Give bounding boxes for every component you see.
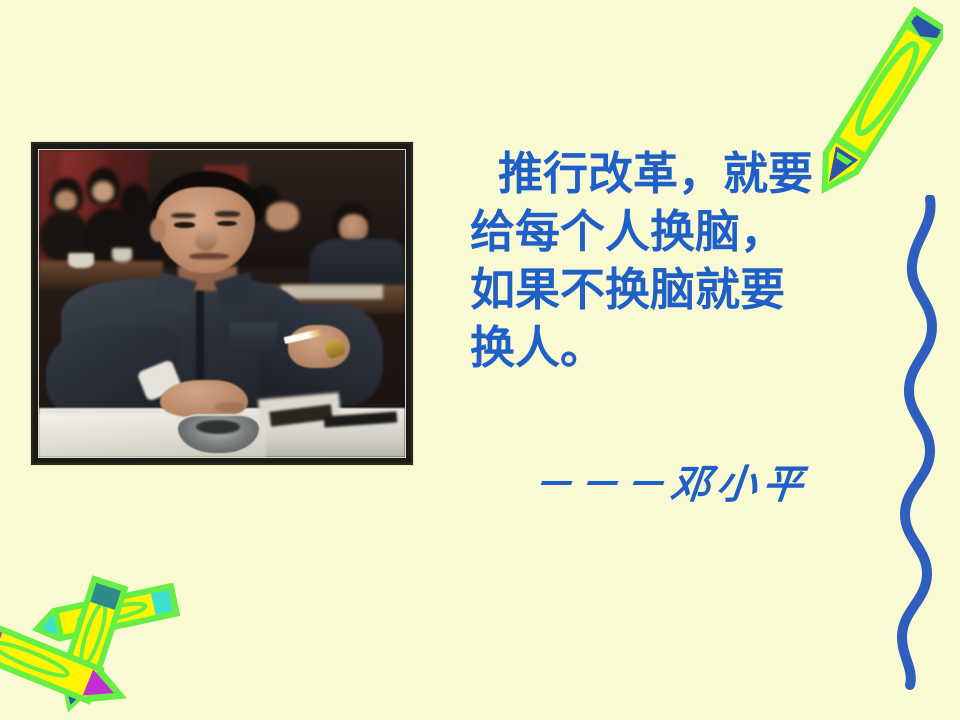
photo-frame: [31, 142, 413, 465]
presentation-slide: 推行改革，就要 给每个人换脑， 如果不换脑就要 换人。 －－－邓小平: [0, 0, 960, 720]
quote-attribution: －－－邓小平: [530, 452, 812, 510]
deng-xiaoping-photo: [38, 149, 406, 458]
crayons-icon: [0, 560, 212, 720]
quote-line-4: 换人。: [470, 319, 870, 377]
quote-line-3: 如果不换脑就要: [470, 261, 870, 319]
wavy-line-icon: [880, 195, 960, 695]
